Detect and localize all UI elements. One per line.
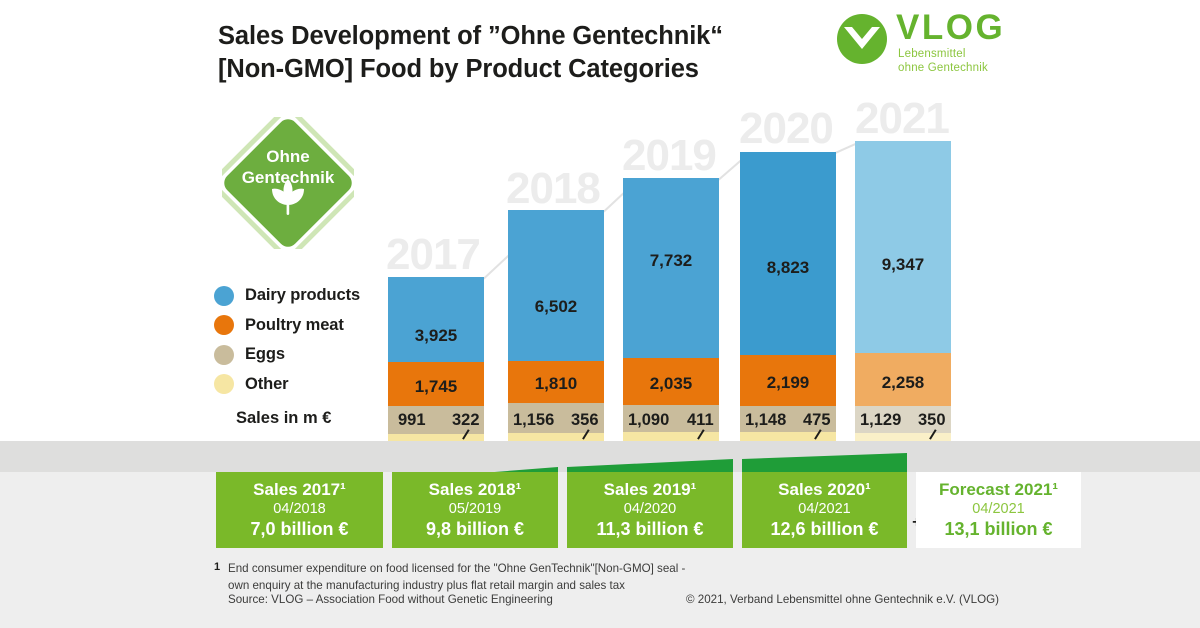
summary-box-forecast-2021[interactable]: Forecast 2021¹ 04/2021 13,1 billion €: [916, 472, 1081, 548]
summary-box-2018-title: Sales 2018¹: [429, 480, 522, 500]
bar-2018-value-other: 356: [571, 412, 599, 429]
bar-2019-value-other: 411: [687, 412, 714, 429]
bar-2020-value-eggs: 1,148: [745, 412, 786, 429]
bar-2021-value-other: 350: [918, 412, 946, 429]
infographic-root: Sales Development of ”Ohne Gentechnik“ […: [0, 0, 1200, 628]
bar-2021-forecast[interactable]: 9,347 2,258: [855, 141, 951, 441]
summary-box-2017-value: 7,0 billion €: [250, 519, 348, 541]
summary-box-2020-title: Sales 2020¹: [778, 480, 871, 500]
bar-2021-segment-other: [855, 433, 951, 441]
bar-2020-value-other: 475: [803, 412, 831, 429]
bar-2017-value-dairy: 3,925: [388, 327, 484, 344]
bar-2020[interactable]: 8,823 2,199: [740, 152, 836, 441]
bar-2019[interactable]: 7,732 2,035: [623, 178, 719, 441]
summary-box-2017[interactable]: Sales 2017¹ 04/2018 7,0 billion €: [216, 472, 383, 548]
bar-2018-value-dairy: 6,502: [508, 298, 604, 315]
footnote-note-line-1: End consumer expenditure on food license…: [228, 561, 788, 578]
bar-2017-segment-other: [388, 434, 484, 441]
footnote-note: End consumer expenditure on food license…: [228, 561, 788, 595]
bar-2018-segment-other: [508, 433, 604, 441]
bar-2021-value-poultry: 2,258: [855, 374, 951, 391]
year-label-2017: 2017: [386, 233, 480, 277]
bar-2020-value-poultry: 2,199: [740, 374, 836, 391]
year-label-2018: 2018: [506, 167, 600, 211]
summary-box-2019-date: 04/2020: [624, 500, 676, 519]
footnote-marker: 1: [214, 561, 220, 573]
bar-2017-value-other: 322: [452, 412, 480, 429]
summary-box-2017-date: 04/2018: [273, 500, 325, 519]
bar-2020-value-dairy: 8,823: [740, 259, 836, 276]
bar-2021-value-eggs: 1,129: [860, 412, 901, 429]
stacked-bar-chart: 2017 2018 2019 2020 2021 3,925 1,745 991…: [0, 0, 1200, 441]
summary-box-2017-title: Sales 2017¹: [253, 480, 346, 500]
bar-2018-value-poultry: 1,810: [508, 375, 604, 392]
bar-2017-value-eggs: 991: [398, 412, 426, 429]
footnote-copyright: © 2021, Verband Lebensmittel ohne Gentec…: [686, 592, 999, 609]
summary-box-forecast-title: Forecast 2021¹: [939, 480, 1058, 500]
summary-box-2018-date: 05/2019: [449, 500, 501, 519]
summary-box-2020[interactable]: Sales 2020¹ 04/2021 12,6 billion €: [742, 472, 907, 548]
summary-box-2019-title: Sales 2019¹: [604, 480, 697, 500]
bar-2021-value-dairy: 9,347: [855, 256, 951, 273]
bar-2018[interactable]: 6,502 1,810: [508, 210, 604, 441]
summary-box-2018-value: 9,8 billion €: [426, 519, 524, 541]
summary-box-2019-value: 11,3 billion €: [596, 519, 703, 541]
bar-2019-value-poultry: 2,035: [623, 375, 719, 392]
bar-2018-value-eggs: 1,156: [513, 412, 554, 429]
bar-2017-value-poultry: 1,745: [388, 378, 484, 395]
bar-2019-segment-other: [623, 432, 719, 441]
summary-box-forecast-value: 13,1 billion €: [944, 519, 1052, 541]
year-label-2020: 2020: [739, 107, 833, 151]
bar-2018-segment-dairy: [508, 210, 604, 361]
bar-2021-segment-dairy: [855, 141, 951, 353]
footnote-source: Source: VLOG – Association Food without …: [228, 592, 553, 609]
summary-box-2018[interactable]: Sales 2018¹ 05/2019 9,8 billion €: [392, 472, 558, 548]
summary-box-2019[interactable]: Sales 2019¹ 04/2020 11,3 billion €: [567, 472, 733, 548]
year-label-2019: 2019: [622, 134, 716, 178]
bar-2020-segment-dairy: [740, 152, 836, 355]
year-label-2021: 2021: [855, 97, 949, 141]
bar-2020-segment-other: [740, 432, 836, 441]
summary-box-forecast-date: 04/2021: [972, 500, 1024, 519]
bar-2017-segment-dairy: [388, 277, 484, 362]
bar-2019-value-dairy: 7,732: [623, 252, 719, 269]
bar-2019-value-eggs: 1,090: [628, 412, 669, 429]
summary-box-2020-date: 04/2021: [798, 500, 850, 519]
summary-box-2020-value: 12,6 billion €: [770, 519, 878, 541]
